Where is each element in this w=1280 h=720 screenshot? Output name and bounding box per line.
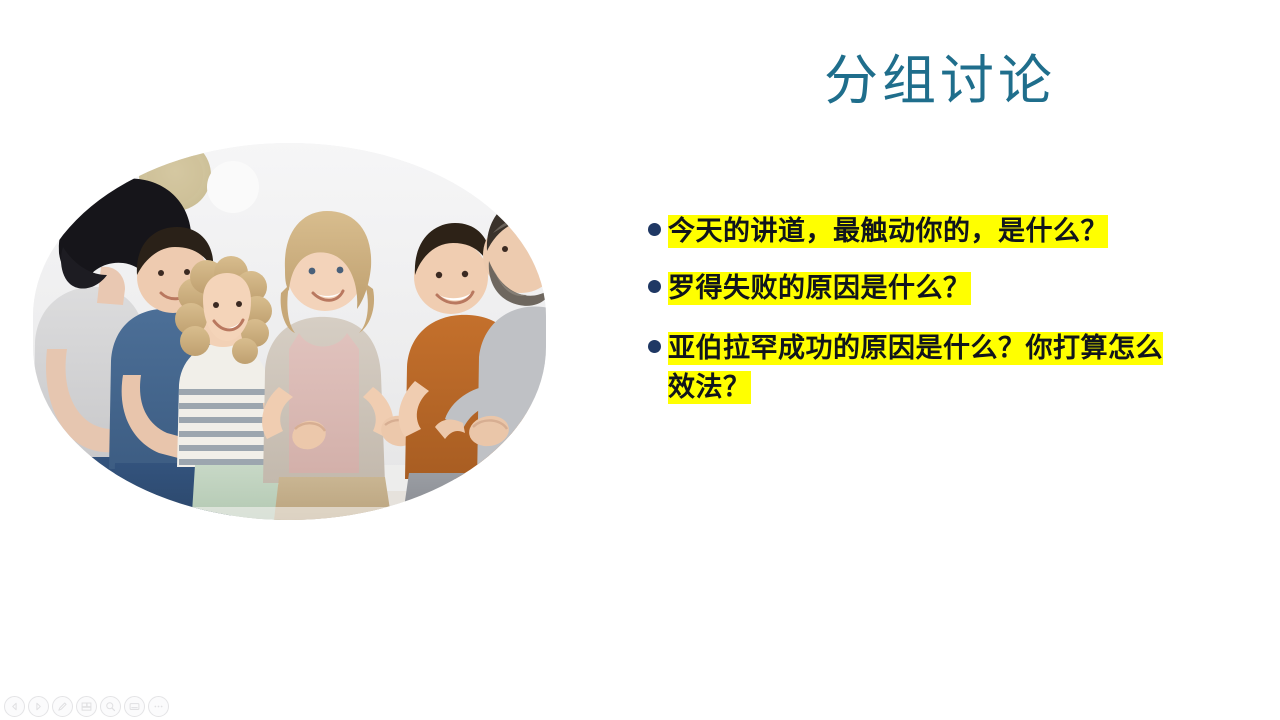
more-options-button[interactable] xyxy=(148,696,169,717)
group-discussion-photo xyxy=(33,143,546,520)
list-item: 今天的讲道，最触动你的，是什么？ xyxy=(648,212,1188,251)
bullet-text: 亚伯拉罕成功的原因是什么？你打算怎么效法？ xyxy=(668,329,1188,408)
pen-annotate-button[interactable] xyxy=(52,696,73,717)
previous-slide-button[interactable] xyxy=(4,696,25,717)
bullet-dot-icon xyxy=(648,340,661,353)
next-slide-icon xyxy=(34,702,43,711)
next-slide-button[interactable] xyxy=(28,696,49,717)
slide-title: 分组讨论 xyxy=(600,52,1280,111)
previous-slide-icon xyxy=(10,702,19,711)
photo-oval-mask xyxy=(33,143,546,520)
bullet-text-highlight: 罗得失败的原因是什么？ xyxy=(668,272,971,305)
pen-annotate-icon xyxy=(57,701,68,712)
bullet-dot-icon xyxy=(648,223,661,236)
list-item: 亚伯拉罕成功的原因是什么？你打算怎么效法？ xyxy=(648,329,1188,408)
bullet-dot-icon xyxy=(648,280,661,293)
magnify-zoom-icon xyxy=(105,701,116,712)
presentation-slide: 分组讨论 xyxy=(0,0,1280,720)
magnify-zoom-button[interactable] xyxy=(100,696,121,717)
bullet-text: 罗得失败的原因是什么？ xyxy=(668,269,1188,308)
slide-grid-button[interactable] xyxy=(76,696,97,717)
subtitle-caption-button[interactable] xyxy=(124,696,145,717)
more-options-icon xyxy=(153,701,164,712)
bullet-text-highlight: 今天的讲道，最触动你的，是什么？ xyxy=(668,215,1108,248)
group-discussion-illustration xyxy=(33,143,546,520)
list-item: 罗得失败的原因是什么？ xyxy=(648,269,1188,308)
subtitle-caption-icon xyxy=(129,701,140,712)
bullet-text: 今天的讲道，最触动你的，是什么？ xyxy=(668,212,1188,251)
bullet-text-highlight: 亚伯拉罕成功的原因是什么？你打算怎么效法？ xyxy=(668,332,1163,404)
discussion-question-list: 今天的讲道，最触动你的，是什么？ 罗得失败的原因是什么？ 亚伯拉罕成功的原因是什… xyxy=(648,212,1188,426)
slide-grid-icon xyxy=(81,701,92,712)
presentation-toolbar[interactable] xyxy=(4,696,169,717)
